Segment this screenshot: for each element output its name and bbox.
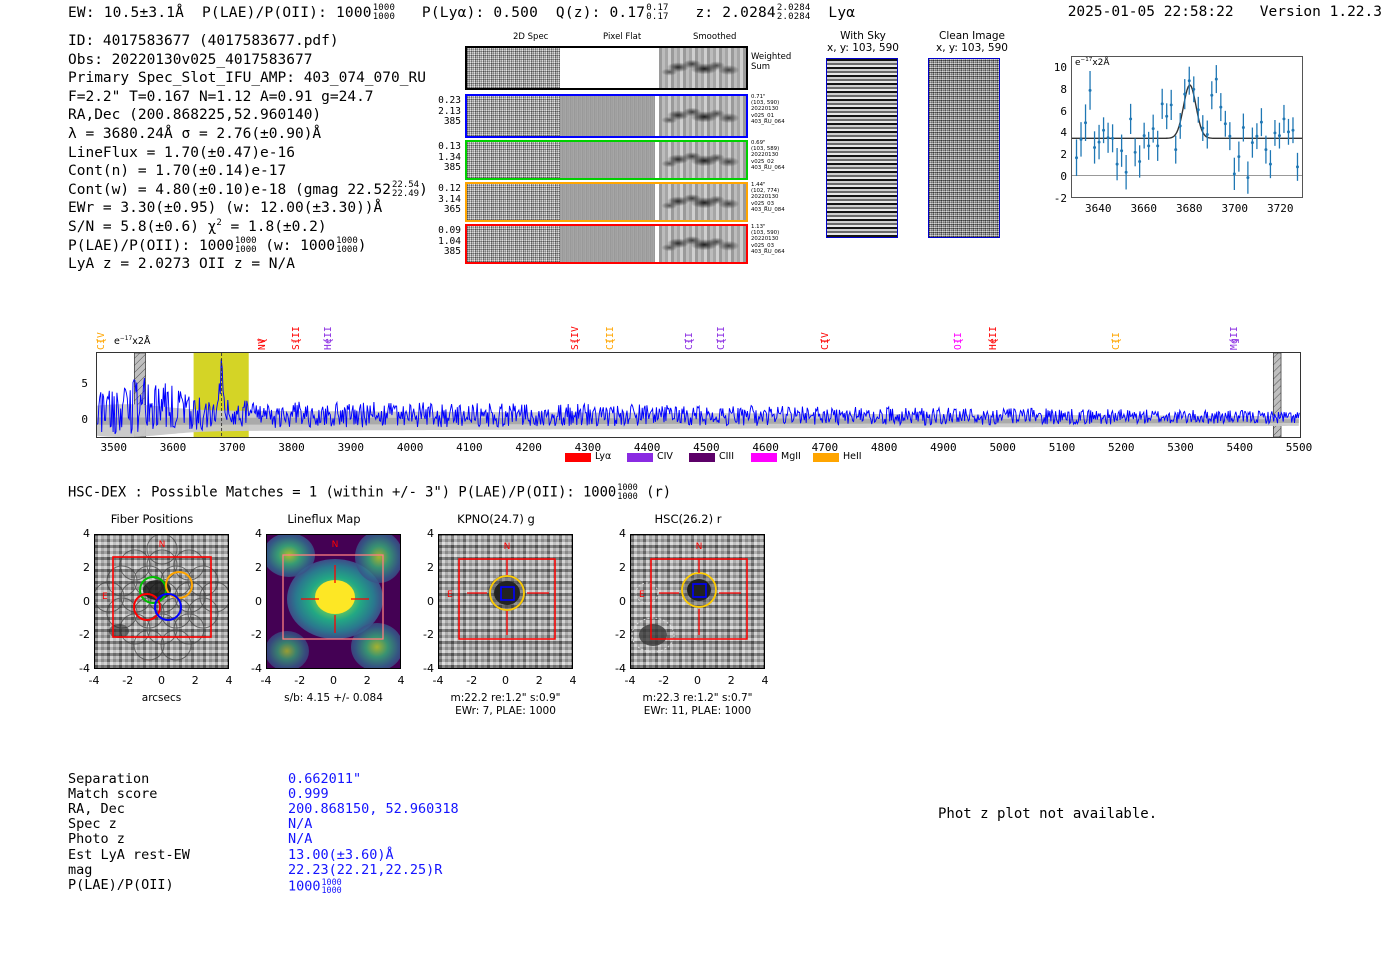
match-key-photo-z: Photo z bbox=[68, 832, 125, 847]
z-lo: 2.0284 bbox=[777, 12, 811, 22]
zoom-plot-flux-annotation: e−17x2Å bbox=[1075, 58, 1110, 68]
cutout-y-tick: -2 bbox=[412, 628, 434, 641]
cutout-x-tick: 0 bbox=[490, 674, 522, 687]
hscdex-filter: (r) bbox=[646, 485, 671, 501]
full-x-tick: 5200 bbox=[1097, 441, 1145, 454]
line-marker-siiv: SiIV bbox=[570, 316, 581, 350]
fiber-row-1 bbox=[465, 94, 748, 138]
plya-value: 0.500 bbox=[493, 5, 538, 21]
line-marker-civ: CIV bbox=[96, 316, 107, 350]
full-x-tick: 4800 bbox=[860, 441, 908, 454]
lineflux-map-title: Lineflux Map bbox=[234, 512, 414, 526]
line-marker-cii: CII bbox=[684, 316, 695, 350]
cutout-x-tick: 4 bbox=[213, 674, 245, 687]
info-obs: Obs: 20220130v025_4017583677 bbox=[68, 51, 428, 70]
photz-message: Phot z plot not available. bbox=[938, 806, 1157, 822]
line-marker-nv: NV bbox=[257, 316, 268, 350]
col-header-pixelflat: Pixel Flat bbox=[603, 32, 641, 42]
qz-lo: 0.17 bbox=[646, 12, 668, 22]
cutout-x-tick: 2 bbox=[523, 674, 555, 687]
full-y-tick: 5 bbox=[62, 377, 88, 390]
line-marker-bracket: { bbox=[605, 338, 616, 344]
weighted-sum-2dspec-image bbox=[467, 48, 560, 88]
info-z-lines: LyA z = 2.0273 OII z = N/A bbox=[68, 255, 428, 274]
cutout-x-tick: -2 bbox=[284, 674, 316, 687]
hsc-r-caption-2: EWr: 11, PLAE: 1000 bbox=[600, 705, 795, 718]
cutout-x-tick: -2 bbox=[648, 674, 680, 687]
full-x-tick: 3600 bbox=[149, 441, 197, 454]
with-sky-image bbox=[826, 58, 898, 238]
hsc-r-image[interactable]: N E bbox=[630, 534, 765, 669]
cutout-y-tick: -4 bbox=[68, 662, 90, 675]
cutout-x-tick: -4 bbox=[250, 674, 282, 687]
hscdex-text: HSC-DEX : Possible Matches = 1 (within +… bbox=[68, 485, 616, 501]
fiber-4-left-labels: 0.09 1.04 385 bbox=[425, 226, 461, 258]
line-marker-oii: OII bbox=[953, 316, 964, 350]
legend-label-heii: HeII bbox=[843, 451, 862, 462]
info-plae-mid: (w: 1000 bbox=[265, 238, 335, 254]
zoom-y-tick: 0 bbox=[1033, 170, 1067, 183]
match-key-ra-dec: RA, Dec bbox=[68, 802, 125, 817]
weighted-sum-row bbox=[465, 46, 748, 90]
cont-w-lo: 22.49 bbox=[392, 189, 419, 199]
full-spectrum-canvas bbox=[97, 353, 1300, 437]
two-d-spectra-block: 2D Spec Pixel Flat Smoothed Weighted Sum… bbox=[425, 32, 815, 254]
info-sn-chi2: S/N = 5.8(±0.6) χ2 = 1.8(±0.2) bbox=[68, 218, 428, 237]
cutout-x-tick: 0 bbox=[146, 674, 178, 687]
cutout-y-tick: -4 bbox=[604, 662, 626, 675]
cutout-x-tick: 2 bbox=[715, 674, 747, 687]
lineflux-map-caption: s/b: 4.15 +/- 0.084 bbox=[256, 692, 411, 705]
ew-value: 10.5±3.1Å bbox=[104, 5, 184, 21]
kpno-g-title: KPNO(24.7) g bbox=[406, 512, 586, 526]
zoom-y-tick: 4 bbox=[1033, 126, 1067, 139]
cutout-panel-hsc-r: HSC(26.2) r N E m:22.3 re:1.2" s:0.7" EW… bbox=[598, 512, 778, 722]
legend-swatch-lyα bbox=[565, 453, 591, 462]
legend-swatch-heii bbox=[813, 453, 839, 462]
info-radec: RA,Dec (200.868225,52.960140) bbox=[68, 106, 428, 125]
detection-info-block: ID: 4017583677 (4017583677.pdf) Obs: 202… bbox=[68, 32, 428, 274]
weighted-sum-label: Weighted Sum bbox=[751, 52, 791, 72]
cutout-x-tick: 4 bbox=[557, 674, 589, 687]
line-marker-civ: CIV bbox=[820, 316, 831, 350]
sn-text: S/N = 5.8(±0.6) χ bbox=[68, 219, 216, 235]
cutout-y-tick: 2 bbox=[240, 561, 262, 574]
cutout-x-tick: 4 bbox=[385, 674, 417, 687]
line-marker-bracket: { bbox=[96, 338, 107, 344]
match-value-ra-dec: 200.868150, 52.960318 bbox=[288, 802, 459, 817]
full-x-tick: 3500 bbox=[90, 441, 138, 454]
legend-swatch-mgii bbox=[751, 453, 777, 462]
cutout-y-tick: 0 bbox=[68, 595, 90, 608]
timestamp: 2025-01-05 22:58:22 bbox=[1068, 4, 1234, 20]
zoom-x-tick: 3700 bbox=[1215, 202, 1255, 215]
hsc-r-title: HSC(26.2) r bbox=[598, 512, 778, 526]
info-plae: P(LAE)/P(OII): 100010001000 (w: 10001000… bbox=[68, 237, 428, 256]
hsc-r-caption-1: m:22.3 re:1.2" s:0.7" bbox=[600, 692, 795, 705]
info-ewr: EWr = 3.30(±0.95) (w: 12.00(±3.30))Å bbox=[68, 199, 428, 218]
match-value-match-score: 0.999 bbox=[288, 787, 329, 802]
match-value-p-lae-p-oii-: 100010001000 bbox=[288, 878, 342, 895]
info-plae-w-lo: 1000 bbox=[336, 245, 358, 255]
full-spectrum-plot: e−17x2Å bbox=[96, 352, 1301, 438]
info-lineflux: LineFlux = 1.70(±0.47)e-16 bbox=[68, 144, 428, 163]
cutout-y-tick: 0 bbox=[604, 595, 626, 608]
zoom-plot-canvas bbox=[1072, 57, 1302, 197]
match-value-mag: 22.23(22.21,22.25)R bbox=[288, 863, 442, 878]
fiber-2-pixelflat-image bbox=[560, 142, 655, 178]
cutout-y-tick: 0 bbox=[412, 595, 434, 608]
match-value-spec-z: N/A bbox=[288, 817, 312, 832]
fiber-1-2dspec-image bbox=[467, 96, 560, 136]
kpno-g-caption-2: EWr: 7, PLAE: 1000 bbox=[408, 705, 603, 718]
fiber-2-2dspec-image bbox=[467, 142, 560, 178]
fiber-2-left-labels: 0.13 1.34 385 bbox=[425, 142, 461, 174]
fiber-1-pixelflat-image bbox=[560, 96, 655, 136]
fiber-2-right-labels: 0.69" (103, 589) 20220130 v025_02 403_RU… bbox=[751, 140, 807, 171]
match-key-p-lae-p-oii-: P(LAE)/P(OII) bbox=[68, 878, 174, 893]
fiber-3-left-labels: 0.12 3.14 365 bbox=[425, 184, 461, 216]
chi2-value: = 1.8(±0.2) bbox=[222, 219, 327, 235]
match-plae-fraction: 10001000 bbox=[322, 878, 342, 895]
line-marker-bracket: { bbox=[291, 338, 302, 344]
cutout-x-tick: 0 bbox=[318, 674, 350, 687]
full-x-tick: 4200 bbox=[505, 441, 553, 454]
full-x-tick: 5400 bbox=[1216, 441, 1264, 454]
match-value-photo-z: N/A bbox=[288, 832, 312, 847]
fiber-row-2 bbox=[465, 140, 748, 180]
with-sky-title: With Sky x, y: 103, 590 bbox=[818, 30, 908, 54]
zoom-y-tick: 10 bbox=[1033, 61, 1067, 74]
zoom-y-tick: -2 bbox=[1033, 192, 1067, 205]
cutout-x-tick: -4 bbox=[78, 674, 110, 687]
line-marker-mgii: MgII bbox=[1229, 316, 1240, 350]
full-x-tick: 5100 bbox=[1038, 441, 1086, 454]
cutout-y-tick: 4 bbox=[68, 527, 90, 540]
fiber-4-pixelflat-image bbox=[560, 226, 655, 262]
qz-label: Q(z): bbox=[556, 5, 601, 21]
emission-line-zoom-plot: e−17x2Å -20246810 36403660368037003720 bbox=[1033, 56, 1303, 222]
line-marker-bracket: { bbox=[988, 338, 999, 344]
cutout-y-tick: 4 bbox=[604, 527, 626, 540]
zoom-y-tick: 2 bbox=[1033, 148, 1067, 161]
legend-label-lyα: Lyα bbox=[595, 451, 611, 462]
full-x-tick: 4900 bbox=[919, 441, 967, 454]
cutout-x-tick: -2 bbox=[456, 674, 488, 687]
match-value-est-lya-rest-ew: 13.00(±3.60)Å bbox=[288, 848, 394, 863]
fiber-4-right-labels: 1.13" (103, 590) 20220130 v025_03 403_RU… bbox=[751, 224, 807, 255]
line-marker-ciii: CIII bbox=[605, 316, 616, 350]
fiber-row-3 bbox=[465, 182, 748, 222]
svg-text:N: N bbox=[159, 540, 166, 550]
zoom-y-tick: 6 bbox=[1033, 105, 1067, 118]
plae-value: 1000 bbox=[336, 5, 372, 21]
line-marker-cii: CII bbox=[1111, 316, 1122, 350]
svg-text:E: E bbox=[102, 592, 108, 602]
zoom-y-tick: 8 bbox=[1033, 83, 1067, 96]
timestamp-version: 2025-01-05 22:58:22 Version 1.22.3 bbox=[1068, 4, 1382, 20]
cutout-y-tick: 0 bbox=[240, 595, 262, 608]
cutout-y-tick: -2 bbox=[240, 628, 262, 641]
zoom-x-tick: 3720 bbox=[1260, 202, 1300, 215]
kpno-g-image[interactable]: N E bbox=[438, 534, 573, 669]
cont-w-text: Cont(w) = 4.80(±0.10)e-18 (gmag 22.52 bbox=[68, 182, 391, 198]
legend-label-ciii: CIII bbox=[719, 451, 734, 462]
fiber-1-smoothed-image bbox=[659, 96, 746, 136]
fiber-2-smoothed-image bbox=[659, 142, 746, 178]
fiber-3-smoothed-image bbox=[659, 184, 746, 220]
info-seeing: F=2.2" T=0.167 N=1.12 A=0.91 g=24.7 bbox=[68, 88, 428, 107]
hscdex-plae-lo: 1000 bbox=[617, 492, 638, 502]
info-id: ID: 4017583677 (4017583677.pdf) bbox=[68, 32, 428, 51]
svg-text:N: N bbox=[504, 542, 511, 552]
cutout-x-tick: -4 bbox=[422, 674, 454, 687]
match-key-match-score: Match score bbox=[68, 787, 157, 802]
weighted-sum-pixelflat-blank bbox=[560, 48, 655, 88]
line-marker-siii: SiII bbox=[291, 316, 302, 350]
legend-label-civ: CIV bbox=[657, 451, 673, 462]
match-key-mag: mag bbox=[68, 863, 92, 878]
match-key-separation: Separation bbox=[68, 772, 149, 787]
lineflux-map-image[interactable]: N bbox=[266, 534, 401, 669]
line-marker-bracket: { bbox=[570, 338, 581, 344]
cutout-x-tick: -4 bbox=[614, 674, 646, 687]
info-cont-n: Cont(n) = 1.70(±0.14)e-17 bbox=[68, 162, 428, 181]
line-marker-bracket: { bbox=[716, 338, 727, 344]
cutout-x-tick: -2 bbox=[112, 674, 144, 687]
fiber-1-right-labels: 0.71" (103, 590) 20220130 v025_01 403_RU… bbox=[751, 94, 807, 125]
svg-text:N: N bbox=[332, 540, 339, 550]
plya-label: P(Lyα): bbox=[422, 5, 485, 21]
zoom-x-tick: 3640 bbox=[1078, 202, 1118, 215]
full-spectrum-flux-annotation: e−17x2Å bbox=[114, 336, 150, 347]
line-marker-ciii: CIII bbox=[716, 316, 727, 350]
clean-image bbox=[928, 58, 1000, 238]
cutout-panel-kpno-g: KPNO(24.7) g N E m:22.2 re:1.2" s:0.9" E… bbox=[406, 512, 586, 722]
cutout-y-tick: -2 bbox=[604, 628, 626, 641]
info-plae-lo: 1000 bbox=[235, 245, 257, 255]
kpno-g-caption-1: m:22.2 re:1.2" s:0.9" bbox=[408, 692, 603, 705]
info-primary-spec: Primary Spec_Slot_IFU_AMP: 403_074_070_R… bbox=[68, 69, 428, 88]
line-marker-bracket: { bbox=[820, 338, 831, 344]
fiber-3-right-labels: 1.44" (102, 774) 20220130 v025_03 403_RU… bbox=[751, 182, 807, 213]
ew-label: EW: bbox=[68, 5, 95, 21]
cutout-x-tick: 2 bbox=[351, 674, 383, 687]
z-value: 2.0284 bbox=[722, 5, 776, 21]
cutout-y-tick: 4 bbox=[412, 527, 434, 540]
info-plae-pre: P(LAE)/P(OII): 1000 bbox=[68, 238, 234, 254]
line-marker-bracket: { bbox=[257, 338, 268, 344]
full-x-tick: 5300 bbox=[1156, 441, 1204, 454]
legend-swatch-ciii bbox=[689, 453, 715, 462]
full-x-tick: 3900 bbox=[327, 441, 375, 454]
z-label: z: bbox=[695, 5, 713, 21]
z-line-name: Lyα bbox=[828, 5, 855, 21]
fiber-1-left-labels: 0.23 2.13 385 bbox=[425, 96, 461, 128]
header-summary-line: EW: 10.5±3.1Å P(LAE)/P(OII): 10001000100… bbox=[68, 4, 855, 22]
full-x-tick: 3700 bbox=[208, 441, 256, 454]
info-plae-post: ) bbox=[358, 238, 367, 254]
version: Version 1.22.3 bbox=[1260, 4, 1382, 20]
col-header-smoothed: Smoothed bbox=[693, 32, 736, 42]
plae-lo: 1000 bbox=[373, 12, 395, 22]
full-x-tick: 5000 bbox=[979, 441, 1027, 454]
fiber-positions-title: Fiber Positions bbox=[62, 512, 242, 526]
plae-label: P(LAE)/P(OII): bbox=[202, 5, 327, 21]
match-key-est-lya-rest-ew: Est LyA rest-EW bbox=[68, 848, 190, 863]
cutout-x-tick: 4 bbox=[749, 674, 781, 687]
svg-text:E: E bbox=[639, 590, 645, 600]
line-marker-heii: HeII bbox=[988, 316, 999, 350]
cutout-y-tick: -4 bbox=[412, 662, 434, 675]
legend-label-mgii: MgII bbox=[781, 451, 801, 462]
cutout-x-tick: 0 bbox=[682, 674, 714, 687]
fiber-4-2dspec-image bbox=[467, 226, 560, 262]
svg-text:E: E bbox=[447, 590, 453, 600]
full-x-tick: 4100 bbox=[445, 441, 493, 454]
weighted-sum-smoothed-image bbox=[659, 48, 746, 88]
fiber-3-2dspec-image bbox=[467, 184, 560, 220]
hscdex-match-line: HSC-DEX : Possible Matches = 1 (within +… bbox=[68, 484, 671, 501]
match-value-separation: 0.662011" bbox=[288, 772, 361, 787]
fiber-4-smoothed-image bbox=[659, 226, 746, 262]
clean-image-title: Clean Image x, y: 103, 590 bbox=[920, 30, 1024, 54]
line-marker-bracket: { bbox=[323, 338, 334, 344]
cutout-y-tick: 2 bbox=[604, 561, 626, 574]
cutout-y-tick: 4 bbox=[240, 527, 262, 540]
info-lambda-sigma: λ = 3680.24Å σ = 2.76(±0.90)Å bbox=[68, 125, 428, 144]
cutout-y-tick: -4 bbox=[240, 662, 262, 675]
full-x-tick: 5500 bbox=[1275, 441, 1323, 454]
qz-value: 0.17 bbox=[610, 5, 646, 21]
line-marker-bracket: { bbox=[684, 338, 695, 344]
cutout-y-tick: 2 bbox=[68, 561, 90, 574]
fiber-3-pixelflat-image bbox=[560, 184, 655, 220]
col-header-2dspec: 2D Spec bbox=[513, 32, 548, 42]
fiber-positions-caption: arcsecs bbox=[94, 692, 229, 705]
cutout-y-tick: -2 bbox=[68, 628, 90, 641]
full-y-tick: 0 bbox=[62, 413, 88, 426]
line-marker-bracket: { bbox=[1229, 338, 1240, 344]
info-cont-w: Cont(w) = 4.80(±0.10)e-18 (gmag 22.5222.… bbox=[68, 181, 428, 200]
cutout-x-tick: 2 bbox=[179, 674, 211, 687]
full-x-tick: 3800 bbox=[268, 441, 316, 454]
line-marker-heii: HeII bbox=[323, 316, 334, 350]
cutout-y-tick: 2 bbox=[412, 561, 434, 574]
line-marker-bracket: { bbox=[1111, 338, 1122, 344]
legend-swatch-civ bbox=[627, 453, 653, 462]
zoom-x-tick: 3660 bbox=[1124, 202, 1164, 215]
zoom-x-tick: 3680 bbox=[1169, 202, 1209, 215]
line-marker-bracket: { bbox=[953, 338, 964, 344]
fiber-positions-image[interactable]: N E bbox=[94, 534, 229, 669]
match-key-spec-z: Spec z bbox=[68, 817, 117, 832]
match-plae-lo: 1000 bbox=[322, 885, 342, 895]
fiber-row-4 bbox=[465, 224, 748, 264]
full-x-tick: 4000 bbox=[386, 441, 434, 454]
svg-text:N: N bbox=[696, 542, 703, 552]
